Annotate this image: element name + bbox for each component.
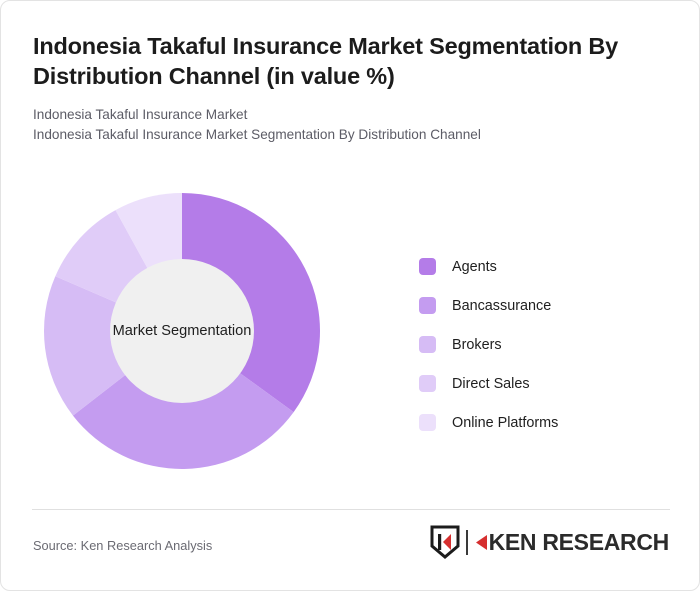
- footer-divider: [32, 509, 670, 510]
- legend-item-label: Bancassurance: [452, 298, 551, 314]
- legend-item[interactable]: Direct Sales: [419, 364, 669, 403]
- shield-k-icon: [430, 525, 460, 559]
- ken-research-logo: KEN RESEARCH: [430, 525, 669, 559]
- logo-text-label: KEN RESEARCH: [489, 529, 669, 556]
- subtitle-market: Indonesia Takaful Insurance Market: [33, 105, 669, 125]
- donut-svg: [32, 176, 332, 486]
- legend-swatch-icon: [419, 414, 436, 431]
- legend-swatch-icon: [419, 297, 436, 314]
- logo-divider: [466, 530, 468, 555]
- legend-item[interactable]: Online Platforms: [419, 403, 669, 442]
- legend-item-label: Online Platforms: [452, 415, 558, 431]
- legend-item-label: Direct Sales: [452, 376, 530, 392]
- source-note: Source: Ken Research Analysis: [33, 538, 212, 553]
- subtitle-segmentation: Indonesia Takaful Insurance Market Segme…: [33, 125, 669, 145]
- legend-item[interactable]: Bancassurance: [419, 286, 669, 325]
- page-title: Indonesia Takaful Insurance Market Segme…: [33, 31, 669, 91]
- donut-center-hole: [110, 259, 254, 403]
- donut-chart: Market Segmentation: [32, 176, 332, 486]
- chart-card: Indonesia Takaful Insurance Market Segme…: [0, 0, 700, 591]
- legend-swatch-icon: [419, 375, 436, 392]
- logo-wordmark: KEN RESEARCH: [475, 529, 669, 556]
- legend-item-label: Agents: [452, 259, 497, 275]
- legend-swatch-icon: [419, 336, 436, 353]
- chart-area: Market Segmentation AgentsBancassuranceB…: [1, 169, 700, 509]
- legend-item[interactable]: Brokers: [419, 325, 669, 364]
- subtitle-block: Indonesia Takaful Insurance Market Indon…: [33, 105, 669, 145]
- legend-item-label: Brokers: [452, 337, 502, 353]
- legend-swatch-icon: [419, 258, 436, 275]
- legend-item[interactable]: Agents: [419, 247, 669, 286]
- chart-legend: AgentsBancassuranceBrokersDirect SalesOn…: [419, 247, 669, 442]
- chart-header: Indonesia Takaful Insurance Market Segme…: [33, 31, 669, 145]
- logo-triangle-icon: [475, 534, 488, 551]
